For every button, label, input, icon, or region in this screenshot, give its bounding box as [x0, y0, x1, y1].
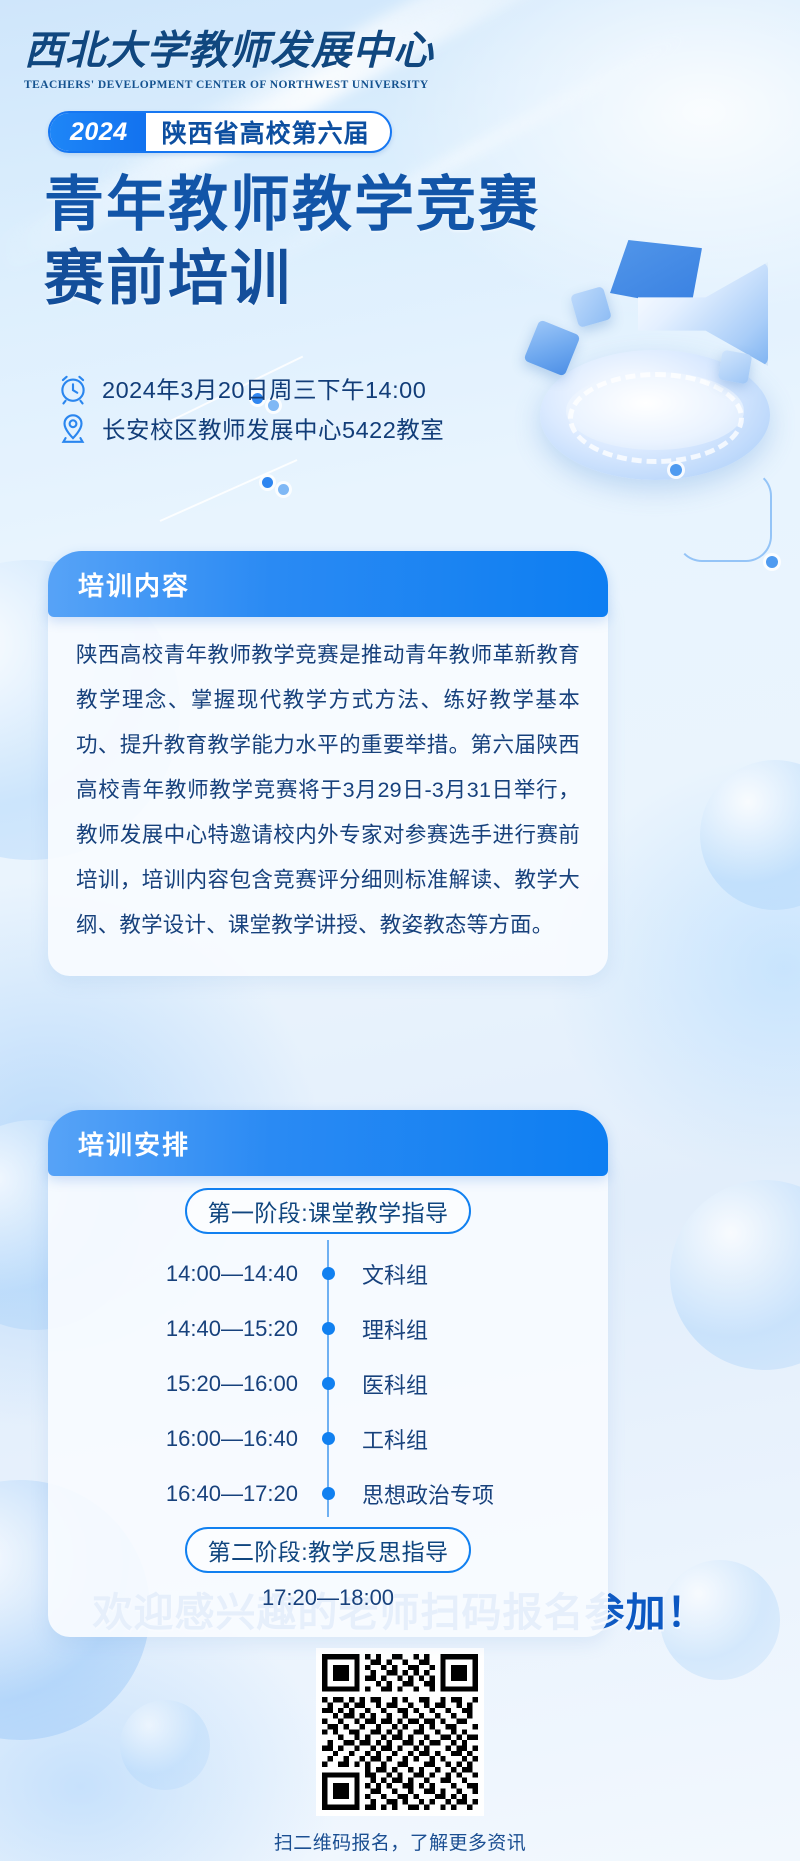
registration-qr-code[interactable] [316, 1648, 484, 1816]
event-datetime: 2024年3月20日周三下午14:00 [102, 371, 426, 405]
poster-title: 青年教师教学竞赛 赛前培训 [44, 168, 540, 316]
schedule-time: 15:20—16:00 [72, 1371, 310, 1397]
training-content-body: 陕西高校青年教师教学竞赛是推动青年教师革新教育教学理念、掌握现代教学方式方法、练… [48, 603, 608, 976]
timeline-dot-cell [310, 1487, 346, 1500]
timeline-dot-cell [310, 1322, 346, 1335]
badge-subtitle: 陕西省高校第六届 [146, 113, 390, 151]
badge-year: 2024 [50, 113, 146, 151]
decorative-node [670, 464, 682, 476]
decorative-node [278, 484, 289, 495]
event-datetime-row: 2024年3月20日周三下午14:00 [56, 368, 444, 408]
hero-cube [570, 286, 612, 328]
alarm-clock-icon [56, 371, 90, 405]
hero-ring [568, 372, 744, 464]
schedule-row: 16:40—17:20 思想政治专项 [72, 1466, 584, 1521]
schedule-group: 工科组 [346, 1423, 584, 1455]
background-blob [670, 1180, 800, 1370]
stage-two-label: 第二阶段:教学反思指导 [185, 1527, 471, 1573]
decorative-wire [676, 470, 772, 562]
training-content-panel: 培训内容 陕西高校青年教师教学竞赛是推动青年教师革新教育教学理念、掌握现代教学方… [48, 551, 608, 976]
training-schedule-heading: 培训安排 [78, 1125, 190, 1162]
decorative-node [262, 477, 273, 488]
schedule-row: 14:40—15:20 理科组 [72, 1301, 584, 1356]
timeline-dot-icon [322, 1267, 335, 1280]
training-content-paragraph: 陕西高校青年教师教学竞赛是推动青年教师革新教育教学理念、掌握现代教学方式方法、练… [76, 633, 580, 948]
schedule-group: 理科组 [346, 1313, 584, 1345]
timeline-dot-cell [310, 1432, 346, 1445]
stage-one-timeline: 14:00—14:40 文科组 14:40—15:20 理科组 15:20—16… [72, 1240, 584, 1523]
hero-cube [718, 350, 753, 385]
qr-code-image [322, 1654, 478, 1810]
training-content-heading: 培训内容 [78, 566, 190, 603]
schedule-group: 文科组 [346, 1258, 584, 1290]
training-schedule-panel: 培训安排 第一阶段:课堂教学指导 14:00—14:40 文科组 14:40—1… [48, 1110, 608, 1637]
stage-one-label: 第一阶段:课堂教学指导 [185, 1188, 471, 1234]
schedule-group: 医科组 [346, 1368, 584, 1400]
background-blob [700, 760, 800, 910]
training-content-header: 培训内容 [48, 551, 608, 617]
timeline-dot-icon [322, 1377, 335, 1390]
timeline-dot-icon [322, 1322, 335, 1335]
schedule-time: 14:00—14:40 [72, 1261, 310, 1287]
schedule-group: 思想政治专项 [346, 1478, 584, 1510]
schedule-time: 16:00—16:40 [72, 1426, 310, 1452]
stage-two-time: 17:20—18:00 [72, 1585, 584, 1611]
organization-name-en: TEACHERS' DEVELOPMENT CENTER OF NORTHWES… [24, 79, 444, 91]
schedule-row: 14:00—14:40 文科组 [72, 1246, 584, 1301]
footer-note: 扫二维码报名，了解更多资讯 [0, 1828, 800, 1855]
decorative-node [766, 556, 778, 568]
organization-logo: 西北大学教师发展中心 TEACHERS' DEVELOPMENT CENTER … [24, 18, 444, 91]
organization-name-cn: 西北大学教师发展中心 [24, 18, 444, 76]
schedule-time: 16:40—17:20 [72, 1481, 310, 1507]
title-line-1: 青年教师教学竞赛 [44, 168, 540, 242]
decorative-line [160, 459, 298, 522]
schedule-row: 16:00—16:40 工科组 [72, 1411, 584, 1466]
title-line-2: 赛前培训 [44, 242, 540, 316]
map-pin-icon [56, 411, 90, 445]
event-location-row: 长安校区教师发展中心5422教室 [56, 408, 444, 448]
schedule-time: 14:40—15:20 [72, 1316, 310, 1342]
timeline-dot-cell [310, 1377, 346, 1390]
timeline-dot-icon [322, 1432, 335, 1445]
event-meta: 2024年3月20日周三下午14:00 长安校区教师发展中心5422教室 [56, 368, 444, 448]
schedule-row: 15:20—16:00 医科组 [72, 1356, 584, 1411]
event-badge: 2024 陕西省高校第六届 [48, 111, 392, 153]
training-schedule-body: 第一阶段:课堂教学指导 14:00—14:40 文科组 14:40—15:20 … [48, 1162, 608, 1637]
event-location: 长安校区教师发展中心5422教室 [102, 411, 444, 445]
timeline-dot-cell [310, 1267, 346, 1280]
hero-cube [523, 319, 580, 376]
training-schedule-header: 培训安排 [48, 1110, 608, 1176]
background-blob [120, 1700, 210, 1790]
timeline-dot-icon [322, 1487, 335, 1500]
